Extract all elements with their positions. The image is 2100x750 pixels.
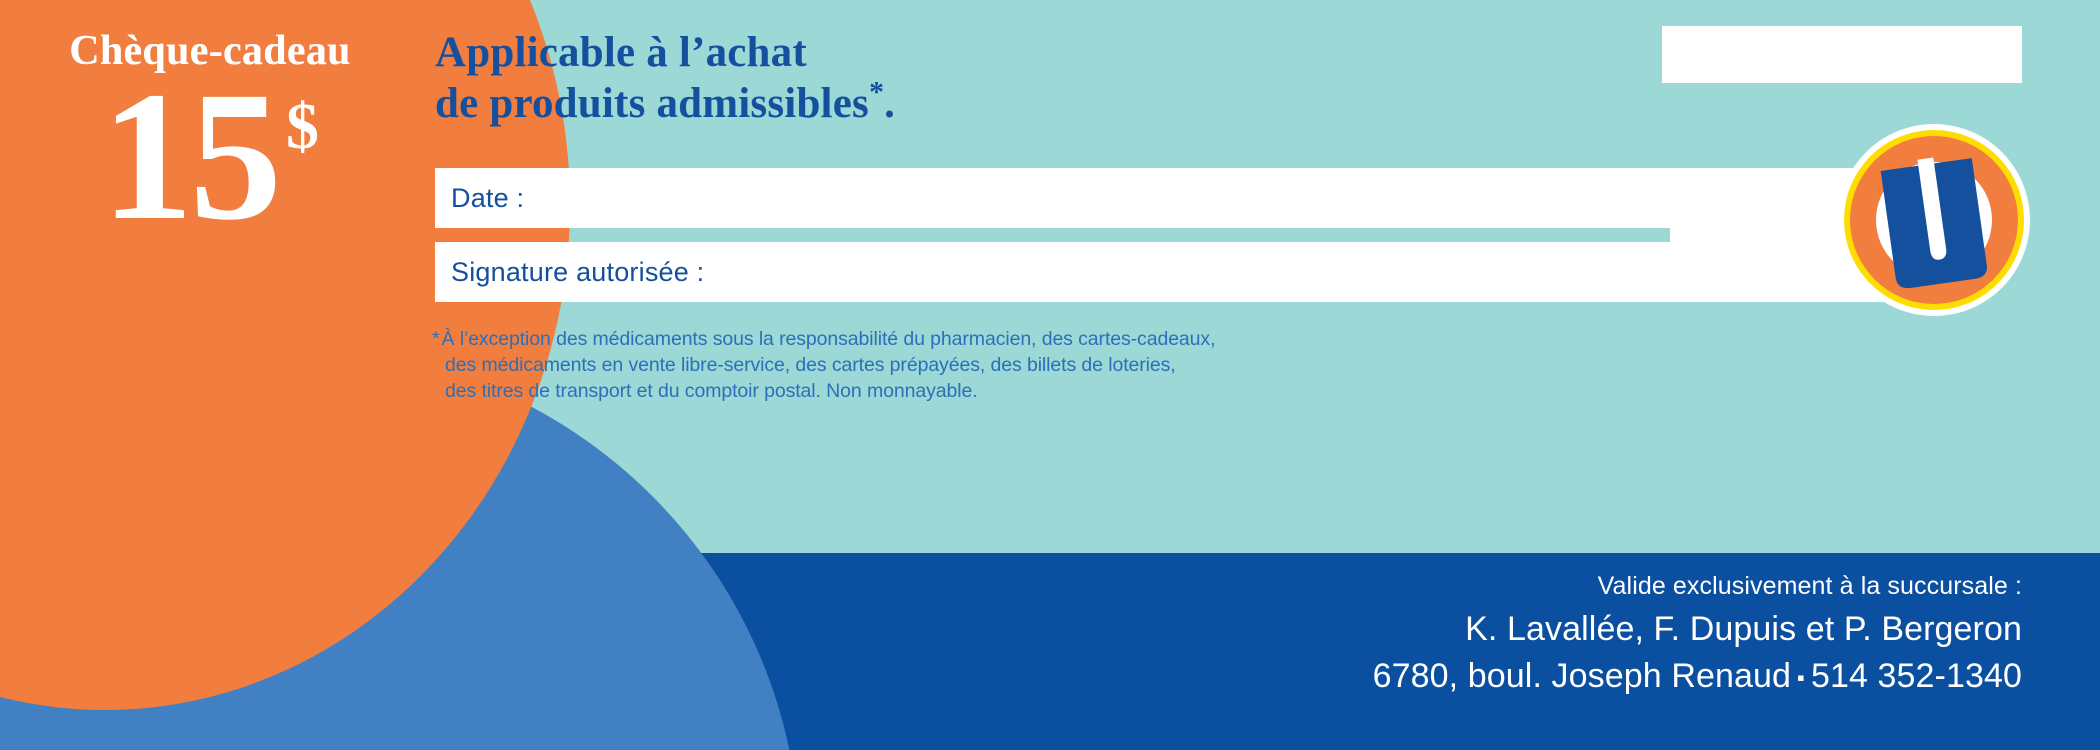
validity-label: Valide exclusivement à la succursale : xyxy=(1373,570,2022,604)
disclaimer-asterisk: * xyxy=(432,328,440,350)
price-column: Chèque-cadeau 15 $ xyxy=(0,0,420,420)
disclaimer-line-3: des titres de transport et du comptoir p… xyxy=(432,379,1632,405)
date-field-label: Date : xyxy=(451,183,524,214)
branch-info: Valide exclusivement à la succursale : K… xyxy=(1373,570,2022,700)
headline-asterisk: * xyxy=(869,75,884,108)
disclaimer-line-1: À l’exception des médicaments sous la re… xyxy=(442,328,1216,350)
branch-name: K. Lavallée, F. Dupuis et P. Bergeron xyxy=(1373,607,2022,653)
currency-symbol: $ xyxy=(286,94,319,160)
signature-field-label: Signature autorisée : xyxy=(451,257,704,288)
disclaimer-text: *À l’exception des médicaments sous la r… xyxy=(432,327,1632,405)
date-field-row[interactable]: Date : xyxy=(435,168,1735,228)
page-title: Applicable à l’achat de produits admissi… xyxy=(435,28,1535,129)
branch-phone: 514 352-1340 xyxy=(1811,657,2022,695)
headline-line-1: Applicable à l’achat xyxy=(435,29,807,76)
amount-row: 15 $ xyxy=(0,78,420,235)
blank-value-box[interactable] xyxy=(1662,26,2022,83)
branch-address: 6780, boul. Joseph Renaud xyxy=(1373,657,1791,695)
headline-line-2: de produits admissibles xyxy=(435,80,869,127)
gift-certificate: Chèque-cadeau 15 $ Applicable à l’achat … xyxy=(0,0,2100,750)
amount-value: 15 xyxy=(101,78,278,235)
headline-period: . xyxy=(884,80,895,127)
uniprix-logo xyxy=(1838,124,2030,316)
signature-field-row[interactable]: Signature autorisée : xyxy=(435,242,1735,302)
branch-address-line: 6780, boul. Joseph Renaud▪514 352-1340 xyxy=(1373,654,2022,700)
address-separator: ▪ xyxy=(1791,665,1811,690)
logo-letter-u-icon xyxy=(1838,124,2030,316)
disclaimer-line-2: des médicaments en vente libre-service, … xyxy=(432,353,1632,379)
